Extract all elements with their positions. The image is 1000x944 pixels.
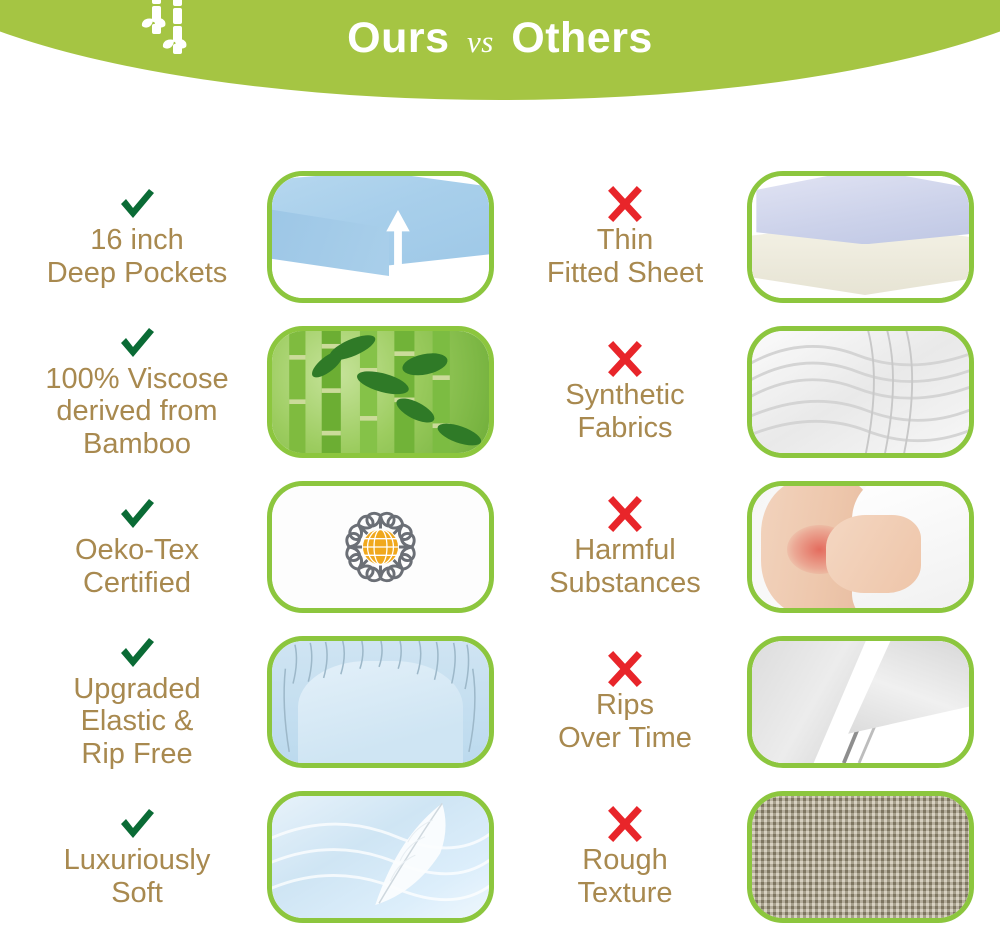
comparison-row: 100% Viscose derived from Bamboo <box>0 315 1000 470</box>
comparison-grid: 16 inch Deep Pockets <box>0 160 1000 935</box>
others-caption: Synthetic Fabrics <box>565 379 684 444</box>
others-caption: Harmful Substances <box>549 534 701 599</box>
check-icon <box>117 496 157 532</box>
ours-caption: 16 inch Deep Pockets <box>47 224 228 289</box>
blue-fitted-sheet-deep-pocket-image <box>272 176 489 298</box>
ours-image-card <box>267 791 494 923</box>
title-others: Others <box>511 14 653 62</box>
title-vs: vs <box>462 24 499 59</box>
cross-icon <box>605 496 645 532</box>
others-cell: Harmful Substances <box>500 470 1000 625</box>
others-caption: Rips Over Time <box>558 689 692 754</box>
ours-image-card <box>267 326 494 458</box>
comparison-row: Luxuriously Soft <box>0 780 1000 935</box>
others-label-group: Rips Over Time <box>500 625 750 780</box>
others-image-card <box>747 326 974 458</box>
green-bamboo-stalks-image <box>272 331 489 453</box>
ours-image-card <box>267 481 494 613</box>
ours-cell: Upgraded Elastic & Rip Free <box>0 625 500 780</box>
white-synthetic-fabric-image <box>752 331 969 453</box>
cross-icon <box>605 186 645 222</box>
ours-caption: Oeko-Tex Certified <box>75 534 199 599</box>
ours-caption: Luxuriously Soft <box>64 844 211 909</box>
ours-image-card <box>267 636 494 768</box>
check-icon <box>117 186 157 222</box>
rough-burlap-texture-image <box>752 796 969 918</box>
title-ours: Ours <box>347 14 449 62</box>
torn-fabric-image <box>752 641 969 763</box>
others-label-group: Thin Fitted Sheet <box>500 160 750 315</box>
ours-cell: Luxuriously Soft <box>0 780 500 935</box>
ours-label-group: Upgraded Elastic & Rip Free <box>12 625 262 780</box>
ours-label-group: Luxuriously Soft <box>12 780 262 935</box>
others-image-card <box>747 791 974 923</box>
others-cell: Rough Texture <box>500 780 1000 935</box>
ours-image-card <box>267 171 494 303</box>
check-icon <box>117 325 157 361</box>
check-icon <box>117 635 157 671</box>
others-image-card <box>747 481 974 613</box>
comparison-row: Oeko-Tex Certified <box>0 470 1000 625</box>
elastic-sheet-corner-image <box>272 641 489 763</box>
ours-label-group: 100% Viscose derived from Bamboo <box>12 315 262 470</box>
up-arrow-icon <box>385 208 411 296</box>
others-cell: Thin Fitted Sheet <box>500 160 1000 315</box>
ours-cell: 100% Viscose derived from Bamboo <box>0 315 500 470</box>
page-title: Ours vs Others <box>0 14 1000 63</box>
others-image-card <box>747 636 974 768</box>
check-icon <box>117 806 157 842</box>
cross-icon <box>605 651 645 687</box>
ours-cell: 16 inch Deep Pockets <box>0 160 500 315</box>
others-label-group: Harmful Substances <box>500 470 750 625</box>
comparison-row: 16 inch Deep Pockets <box>0 160 1000 315</box>
header-banner: Ours vs Others <box>0 0 1000 110</box>
comparison-row: Upgraded Elastic & Rip Free <box>0 625 1000 780</box>
ours-label-group: 16 inch Deep Pockets <box>12 160 262 315</box>
thin-sheet-on-mattress-image <box>752 176 969 298</box>
skin-rash-image <box>752 486 969 608</box>
oeko-tex-logo-image <box>272 486 489 608</box>
ours-caption: Upgraded Elastic & Rip Free <box>73 673 200 770</box>
ours-caption: 100% Viscose derived from Bamboo <box>45 363 228 460</box>
feather-softness-image <box>272 796 489 918</box>
others-cell: Rips Over Time <box>500 625 1000 780</box>
others-image-card <box>747 171 974 303</box>
others-caption: Thin Fitted Sheet <box>547 224 703 289</box>
others-caption: Rough Texture <box>577 844 672 909</box>
others-label-group: Synthetic Fabrics <box>500 315 750 470</box>
cross-icon <box>605 341 645 377</box>
others-cell: Synthetic Fabrics <box>500 315 1000 470</box>
cross-icon <box>605 806 645 842</box>
ours-cell: Oeko-Tex Certified <box>0 470 500 625</box>
others-label-group: Rough Texture <box>500 780 750 935</box>
ours-label-group: Oeko-Tex Certified <box>12 470 262 625</box>
